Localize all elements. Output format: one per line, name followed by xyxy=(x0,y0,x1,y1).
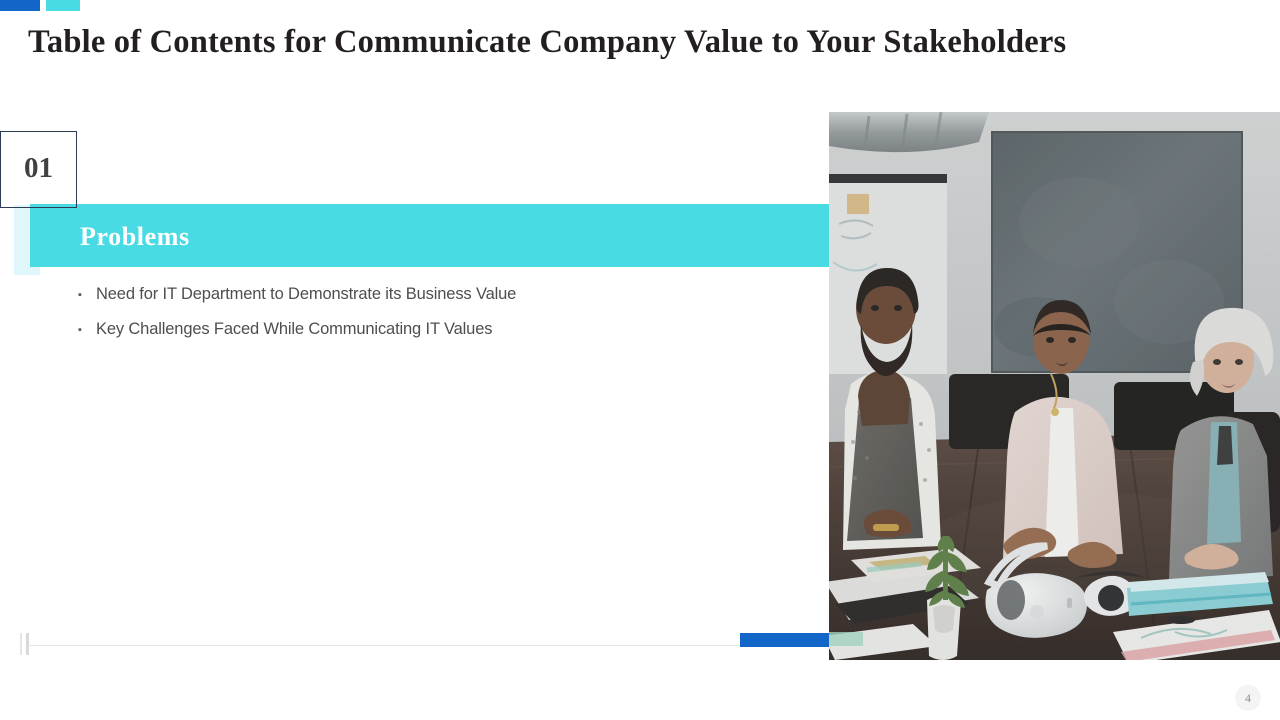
footer-tick-mark xyxy=(26,633,29,655)
slide-canvas: Table of Contents for Communicate Compan… xyxy=(0,0,1280,720)
list-item-label: Need for IT Department to Demonstrate it… xyxy=(96,283,516,306)
section-number-box: 01 xyxy=(0,131,77,208)
footer-tick-mark xyxy=(20,633,22,655)
top-accent-cyan-bar xyxy=(46,0,80,11)
top-accent-blue-bar xyxy=(0,0,40,11)
square-bullet-icon: ▪ xyxy=(78,283,96,307)
footer-accent-blue-bar xyxy=(740,633,829,647)
section-banner: Problems xyxy=(30,204,829,267)
page-title: Table of Contents for Communicate Compan… xyxy=(28,22,1238,62)
meeting-room-photo xyxy=(829,112,1280,660)
footer-divider xyxy=(28,645,828,646)
bullet-list: ▪ Need for IT Department to Demonstrate … xyxy=(78,283,798,353)
page-number-badge: 4 xyxy=(1235,685,1261,711)
section-number-label: 01 xyxy=(1,132,76,207)
section-banner-label: Problems xyxy=(80,222,190,252)
list-item-label: Key Challenges Faced While Communicating… xyxy=(96,318,492,341)
list-item: ▪ Key Challenges Faced While Communicati… xyxy=(78,318,798,342)
meeting-room-illustration xyxy=(829,112,1280,660)
list-item: ▪ Need for IT Department to Demonstrate … xyxy=(78,283,798,307)
square-bullet-icon: ▪ xyxy=(78,318,96,342)
